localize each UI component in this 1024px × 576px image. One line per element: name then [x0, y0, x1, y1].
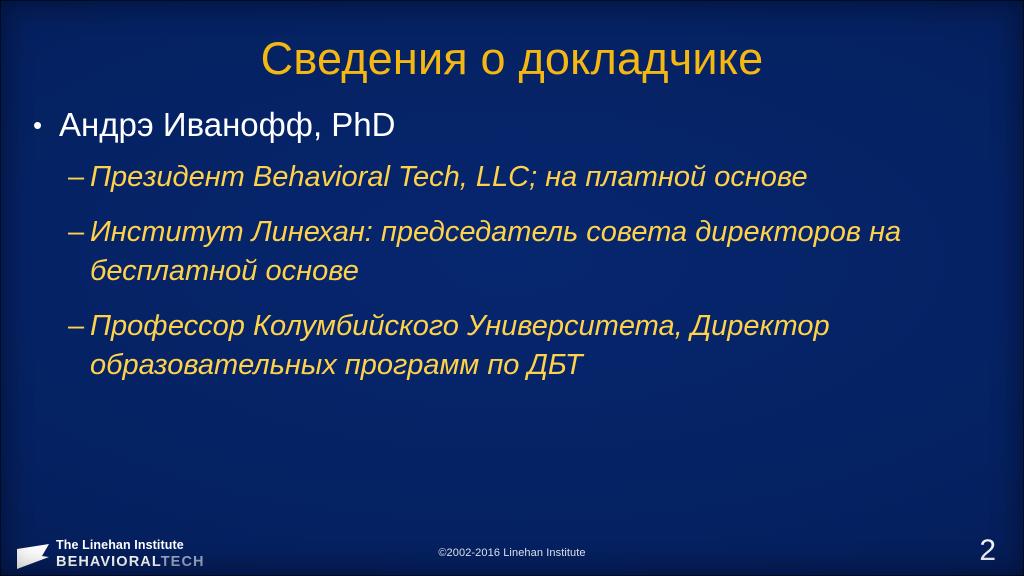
bullet-level2-label: Профессор Колумбийского Университета, Ди…: [90, 307, 978, 385]
bullet-level2: – Институт Линехан: председатель совета …: [0, 213, 1024, 291]
bullet-level1: • Андрэ Иванофф, PhD: [0, 104, 1024, 146]
dash-marker-icon: –: [68, 158, 90, 197]
bullet-dot-icon: •: [33, 104, 59, 146]
copyright-text: ©2002-2016 Linehan Institute: [0, 546, 1024, 560]
dash-marker-icon: –: [68, 307, 90, 346]
bullet-level2: – Президент Behavioral Tech, LLC; на пла…: [0, 158, 1024, 197]
dash-marker-icon: –: [68, 213, 90, 252]
bullet-level1-label: Андрэ Иванофф, PhD: [59, 104, 1024, 146]
page-number: 2: [979, 534, 996, 568]
bullet-level2-label: Институт Линехан: председатель совета ди…: [90, 213, 978, 291]
presentation-slide: Сведения о докладчике • Андрэ Иванофф, P…: [0, 0, 1024, 576]
bullet-level2: – Профессор Колумбийского Университета, …: [0, 307, 1024, 385]
slide-title: Сведения о докладчике: [0, 34, 1024, 84]
bullet-level2-label: Президент Behavioral Tech, LLC; на платн…: [90, 158, 978, 197]
slide-body: • Андрэ Иванофф, PhD – Президент Behavio…: [0, 104, 1024, 385]
